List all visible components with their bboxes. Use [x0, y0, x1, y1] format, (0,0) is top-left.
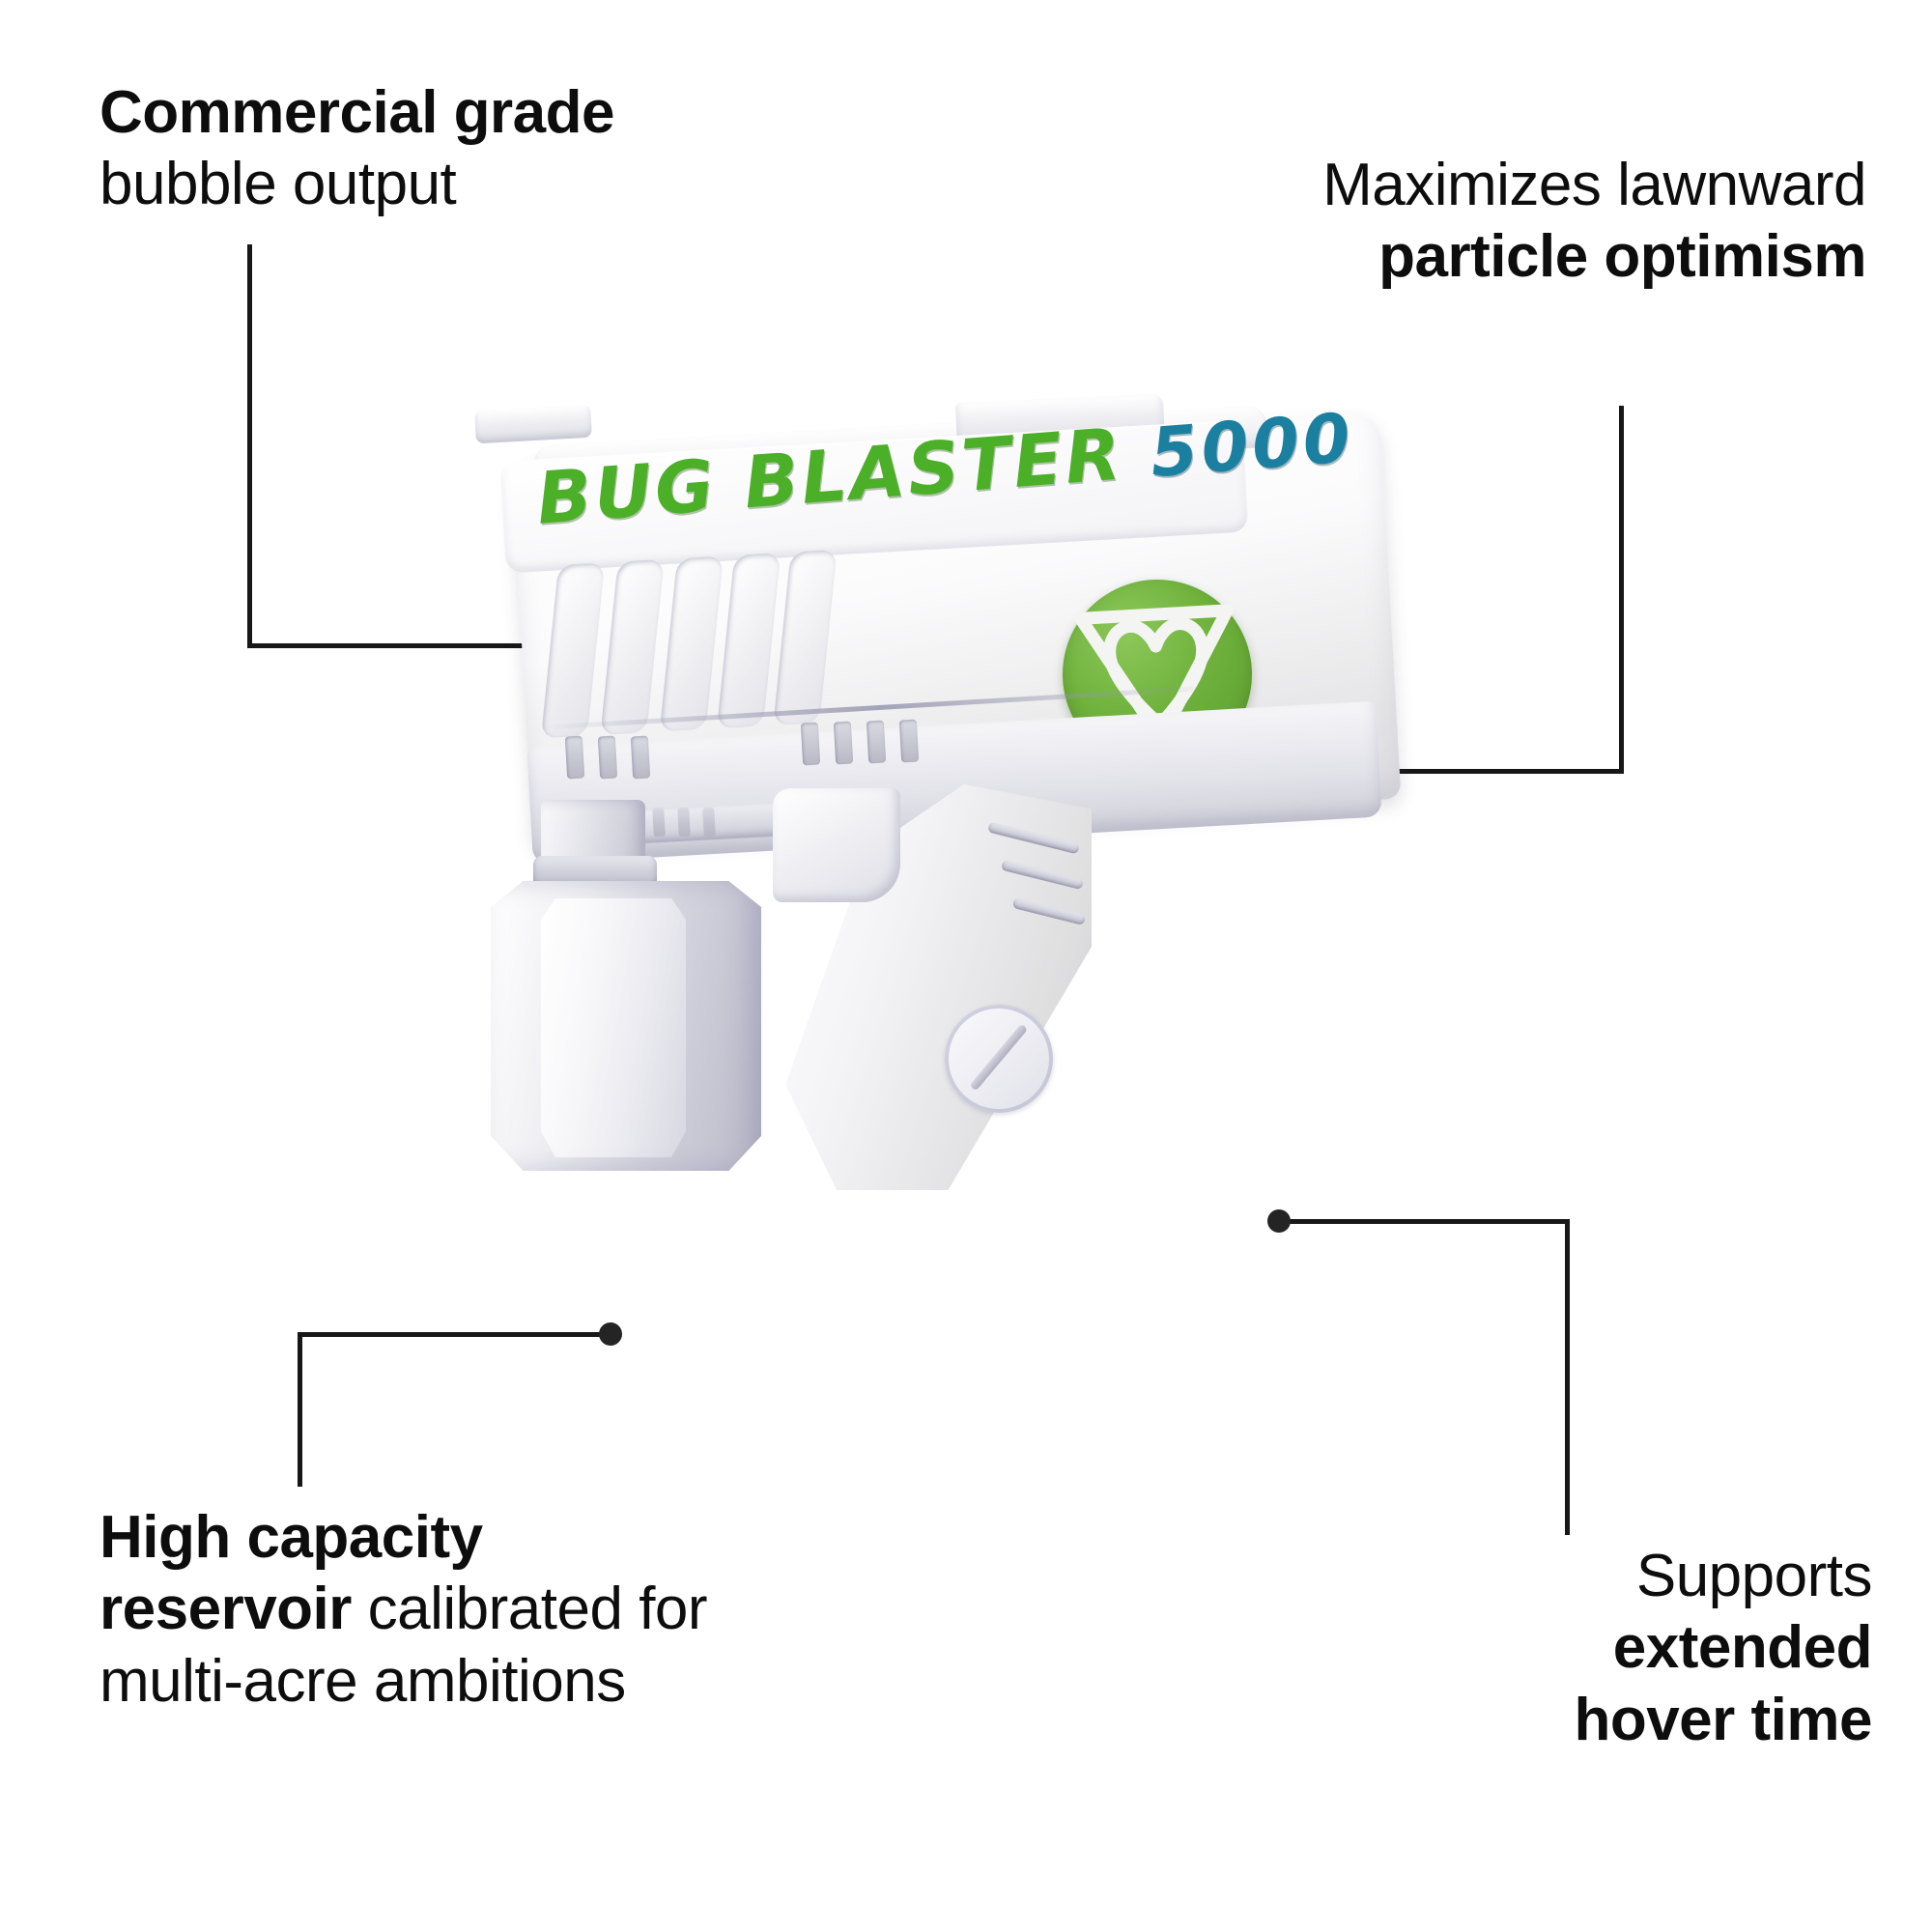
- brand-name-model-number: 5000: [1148, 398, 1356, 493]
- body-detail-slot: [565, 736, 584, 780]
- under-lip-notch: [677, 808, 691, 838]
- callout-line: bubble output: [99, 149, 614, 220]
- callout-line: Maximizes lawnward: [1322, 150, 1866, 221]
- product-trigger-guard: [773, 788, 900, 902]
- under-lip-notch: [702, 808, 716, 838]
- callout-commercial-grade: Commercial grade bubble output: [99, 77, 614, 221]
- vent-slot: [614, 566, 653, 703]
- callout-line: High capacity: [99, 1502, 707, 1574]
- callout-extended-hover-time: Supports extended hover time: [1574, 1541, 1872, 1756]
- callout-line: multi-acre ambitions: [99, 1646, 707, 1718]
- leader-line-particle-optimism-vertical: [1619, 406, 1624, 773]
- callout-line-regular-part: calibrated for: [352, 1576, 707, 1642]
- callout-line: extended: [1574, 1612, 1872, 1684]
- product-reservoir-bottle-face: [541, 898, 686, 1157]
- callout-line-bold-part: reservoir: [99, 1576, 352, 1642]
- callout-high-capacity-reservoir: High capacity reservoir calibrated for m…: [99, 1502, 707, 1718]
- callout-line: hover time: [1574, 1685, 1872, 1756]
- body-detail-slot: [867, 721, 886, 764]
- leader-line-reservoir-vertical: [298, 1332, 302, 1487]
- body-detail-slot: [631, 736, 650, 780]
- callout-line: Commercial grade: [99, 77, 614, 149]
- body-detail-slot: [899, 720, 919, 763]
- vent-slot: [671, 562, 712, 718]
- body-detail-slot: [598, 736, 617, 780]
- vent-slot: [788, 556, 826, 684]
- vent-slot: [729, 559, 769, 707]
- callout-line: reservoir calibrated for: [99, 1574, 707, 1645]
- body-detail-slot: [834, 722, 853, 765]
- product-nozzle-tab: [474, 405, 592, 444]
- leader-line-commercial-grade-vertical: [247, 244, 252, 648]
- body-detail-slot: [801, 723, 820, 766]
- infographic-canvas: Commercial grade bubble output Maximizes…: [0, 0, 1932, 1932]
- vent-slot: [556, 569, 593, 687]
- callout-particle-optimism: Maximizes lawnward particle optimism: [1322, 150, 1866, 294]
- callout-line: Supports: [1574, 1541, 1872, 1612]
- callout-line: particle optimism: [1322, 221, 1866, 293]
- product-image-bug-blaster-5000: BUG BLASTER 5000: [483, 415, 1468, 1391]
- leader-line-hover-time-vertical: [1565, 1219, 1570, 1535]
- under-lip-notch: [652, 808, 666, 838]
